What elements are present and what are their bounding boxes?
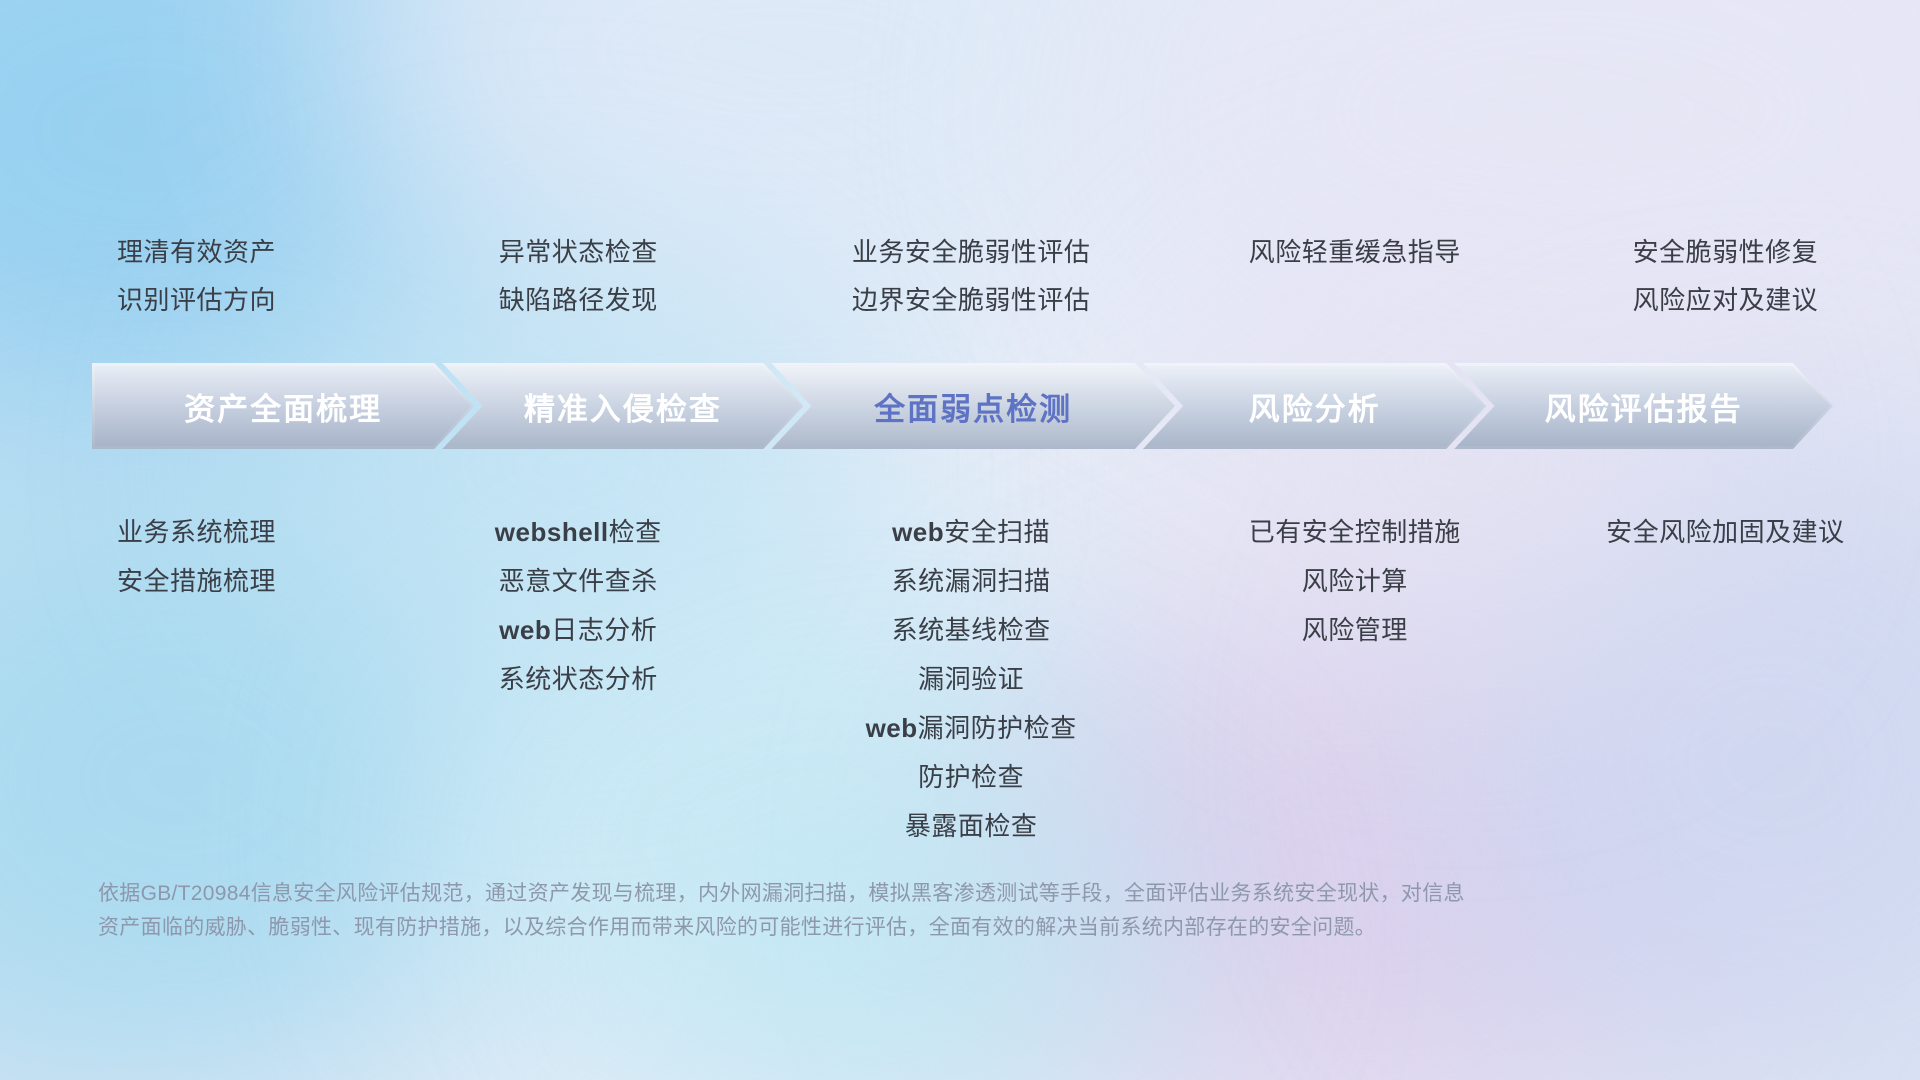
task-item: 安全措施梳理 bbox=[117, 557, 276, 606]
output-item: 风险轻重缓急指导 bbox=[1249, 228, 1461, 276]
stage-tasks-asset-inventory: 业务系统梳理安全措施梳理 bbox=[0, 508, 393, 828]
stage-tasks-intrusion-check: webshell检查恶意文件查杀web日志分析系统状态分析 bbox=[393, 508, 764, 828]
task-item: 风险管理 bbox=[1302, 606, 1408, 655]
output-item: 缺陷路径发现 bbox=[499, 276, 658, 324]
stage-chevron-band: 资产全面梳理精准入侵检查全面弱点检测风险分析风险评估报告 bbox=[95, 366, 1830, 446]
task-item: 系统状态分析 bbox=[499, 655, 658, 704]
output-item: 识别评估方向 bbox=[117, 276, 276, 324]
stage-chevron-intrusion-check[interactable]: 精准入侵检查 bbox=[445, 366, 800, 446]
stage-tasks-row: 业务系统梳理安全措施梳理webshell检查恶意文件查杀web日志分析系统状态分… bbox=[0, 508, 1920, 828]
task-item: 已有安全控制措施 bbox=[1249, 508, 1461, 557]
output-item: 异常状态检查 bbox=[499, 228, 658, 276]
output-item: 风险应对及建议 bbox=[1633, 276, 1819, 324]
stage-outputs-row: 理清有效资产识别评估方向异常状态检查缺陷路径发现业务安全脆弱性评估边界安全脆弱性… bbox=[0, 228, 1920, 328]
footer-line-2: 资产面临的威胁、脆弱性、现有防护措施，以及综合作用而带来风险的可能性进行评估，全… bbox=[98, 911, 1598, 945]
chevron-label: 全面弱点检测 bbox=[874, 384, 1072, 429]
stage-outputs-risk-analysis: 风险轻重缓急指导 bbox=[1179, 228, 1531, 328]
chevron-label: 风险分析 bbox=[1249, 384, 1381, 429]
task-item: 暴露面检查 bbox=[905, 802, 1038, 851]
task-item: 防护检查 bbox=[918, 753, 1024, 802]
chevron-label: 精准入侵检查 bbox=[524, 384, 722, 429]
stage-outputs-intrusion-check: 异常状态检查缺陷路径发现 bbox=[393, 228, 764, 328]
stage-outputs-asset-inventory: 理清有效资产识别评估方向 bbox=[0, 228, 393, 328]
task-item: 业务系统梳理 bbox=[117, 508, 276, 557]
task-item: 恶意文件查杀 bbox=[499, 557, 658, 606]
task-item: web日志分析 bbox=[499, 606, 657, 655]
task-item: 安全风险加固及建议 bbox=[1606, 508, 1845, 557]
output-item: 边界安全脆弱性评估 bbox=[852, 276, 1091, 324]
stage-outputs-weakness-detection: 业务安全脆弱性评估边界安全脆弱性评估 bbox=[764, 228, 1179, 328]
footer-description: 依据GB/T20984信息安全风险评估规范，通过资产发现与梳理，内外网漏洞扫描，… bbox=[98, 877, 1598, 945]
stage-chevron-weakness-detection[interactable]: 全面弱点检测 bbox=[774, 366, 1172, 446]
task-item: web安全扫描 bbox=[892, 508, 1050, 557]
chevron-label: 资产全面梳理 bbox=[184, 384, 382, 429]
task-item: webshell检查 bbox=[495, 508, 662, 557]
output-item: 安全脆弱性修复 bbox=[1633, 228, 1819, 276]
output-item: 业务安全脆弱性评估 bbox=[852, 228, 1091, 276]
stage-outputs-risk-report: 安全脆弱性修复风险应对及建议 bbox=[1531, 228, 1920, 328]
stage-tasks-risk-report: 安全风险加固及建议 bbox=[1531, 508, 1920, 828]
stage-tasks-risk-analysis: 已有安全控制措施风险计算风险管理 bbox=[1179, 508, 1531, 828]
task-item: 系统基线检查 bbox=[892, 606, 1051, 655]
task-item: 风险计算 bbox=[1302, 557, 1408, 606]
stage-chevron-asset-inventory[interactable]: 资产全面梳理 bbox=[95, 366, 471, 446]
task-item: web漏洞防护检查 bbox=[866, 704, 1077, 753]
task-item: 系统漏洞扫描 bbox=[892, 557, 1051, 606]
chevron-label: 风险评估报告 bbox=[1545, 384, 1743, 429]
stage-chevron-risk-analysis[interactable]: 风险分析 bbox=[1146, 366, 1483, 446]
task-item: 漏洞验证 bbox=[918, 655, 1024, 704]
output-item: 理清有效资产 bbox=[117, 228, 276, 276]
stage-chevron-risk-report[interactable]: 风险评估报告 bbox=[1457, 366, 1830, 446]
footer-line-1: 依据GB/T20984信息安全风险评估规范，通过资产发现与梳理，内外网漏洞扫描，… bbox=[98, 877, 1598, 911]
stage-tasks-weakness-detection: web安全扫描系统漏洞扫描系统基线检查漏洞验证web漏洞防护检查防护检查暴露面检… bbox=[764, 508, 1179, 828]
process-diagram: 理清有效资产识别评估方向异常状态检查缺陷路径发现业务安全脆弱性评估边界安全脆弱性… bbox=[0, 0, 1920, 1080]
